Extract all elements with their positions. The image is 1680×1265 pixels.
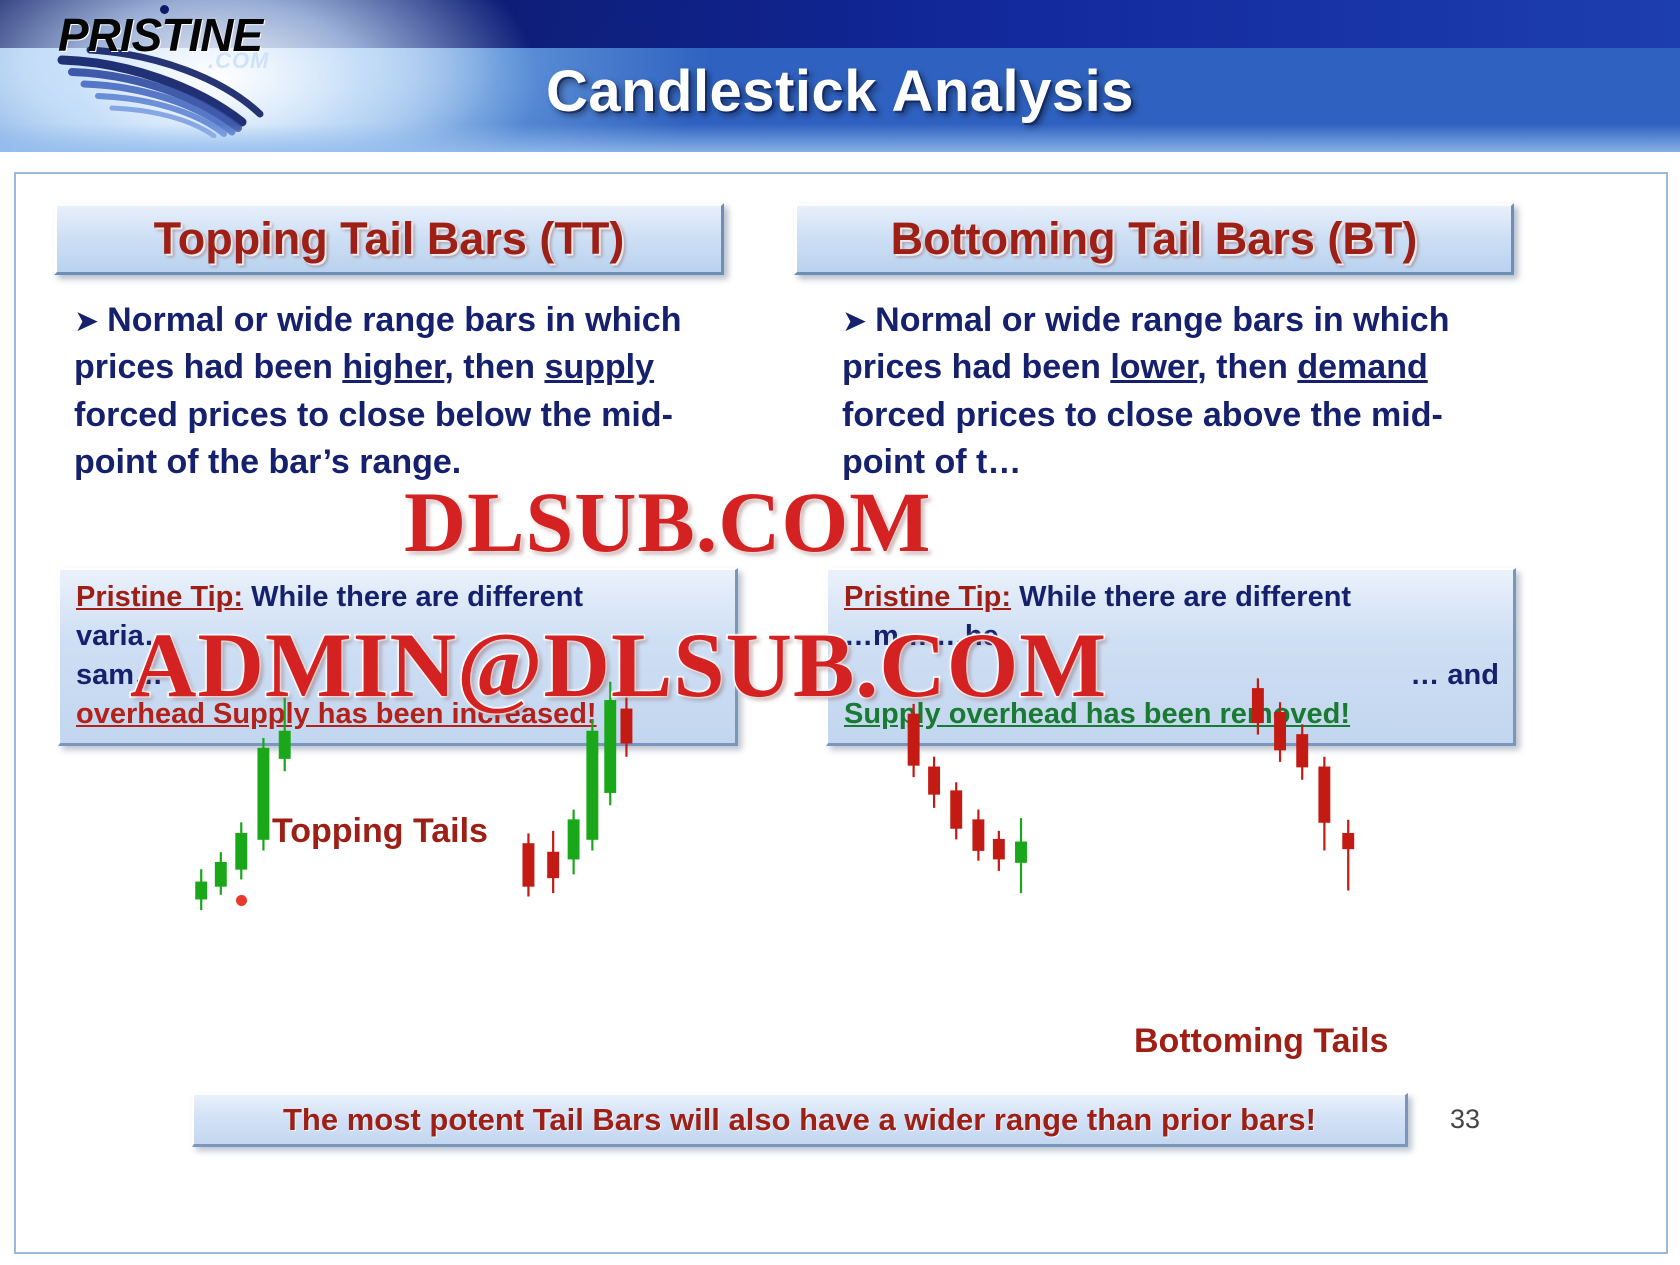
bottoming-tail-tip-box: Pristine Tip: While there are different … [826,568,1516,746]
slide-header: PRISTINE .COM Candlestick Analysis [0,0,1680,152]
tt-body-part-4: forced prices to close below the mid-poi… [74,396,673,481]
tip-line-2: …m… …he [844,617,1499,656]
topping-tails-label: Topping Tails [272,812,488,851]
bottom-caption-text: The most potent Tail Bars will also have… [283,1102,1316,1138]
bottoming-tail-heading-text: Bottoming Tail Bars (BT) [891,213,1418,265]
page-number: 33 [1450,1104,1480,1135]
bottom-caption-box: The most potent Tail Bars will also have… [192,1093,1408,1147]
tip-line-4: Supply overhead has been removed! [844,695,1499,734]
page-title: Candlestick Analysis [0,58,1680,125]
bottoming-tail-body: ➤Normal or wide range bars in which pric… [842,297,1502,486]
tip-line-1: Pristine Tip: While there are different [76,578,721,617]
bt-body-part-4: forced prices to close above the mid-poi… [842,396,1443,481]
slide: PRISTINE .COM Candlestick Analysis Toppi… [0,0,1680,1265]
bottoming-tail-heading-box: Bottoming Tail Bars (BT) [794,203,1514,275]
bt-body-part-3: demand [1297,348,1427,386]
tt-body-part-1: higher [342,348,444,386]
tip-line-2: varia… [76,617,721,656]
tip-line-1: Pristine Tip: While there are different [844,578,1499,617]
tip-line-3: sam… [76,656,721,695]
tip-line-4: overhead Supply has been increased! [76,695,721,734]
bullet-arrow-icon: ➤ [842,305,867,338]
red-dot-marker [236,895,247,906]
tip-line-1-text: While there are different [251,581,583,613]
tt-body-part-2: , then [444,348,544,386]
bullet-arrow-icon: ➤ [74,305,99,338]
topping-tail-heading-box: Topping Tail Bars (TT) [54,203,724,275]
tip-line-1-text: While there are different [1019,581,1351,613]
bottoming-tails-label: Bottoming Tails [1134,1022,1388,1061]
bt-body-part-1: lower [1110,348,1197,386]
bt-body-part-2: , then [1197,348,1297,386]
topping-tail-tip-box: Pristine Tip: While there are different … [58,568,738,746]
header-fade [0,124,1680,152]
tip-line-3: … and [844,656,1499,695]
topping-tail-body: ➤Normal or wide range bars in which pric… [74,297,714,486]
tt-body-part-3: supply [544,348,654,386]
tip-label: Pristine Tip: [76,581,243,613]
tip-label: Pristine Tip: [844,581,1011,613]
topping-tail-heading-text: Topping Tail Bars (TT) [154,213,625,265]
